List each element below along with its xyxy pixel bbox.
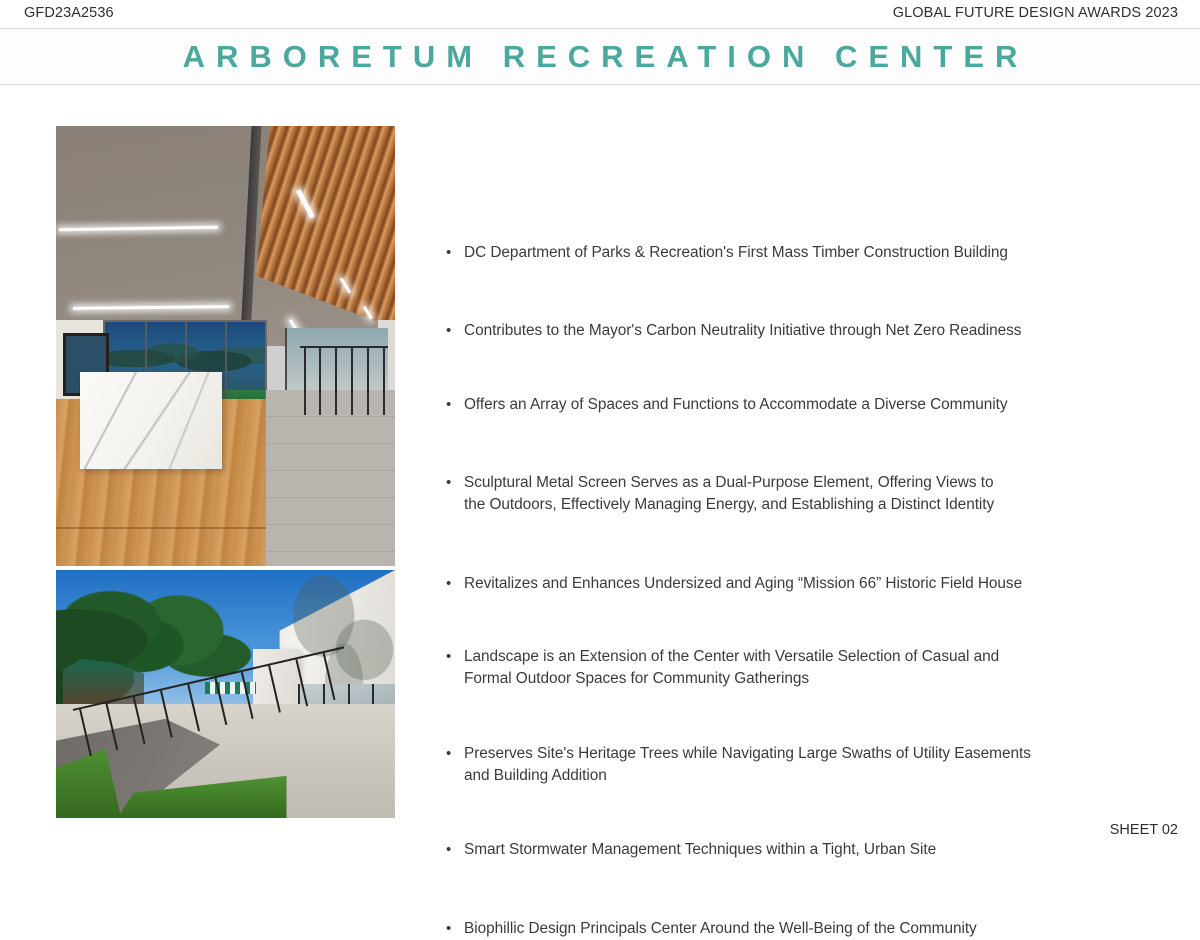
- award-name-label: GLOBAL FUTURE DESIGN AWARDS 2023: [893, 5, 1178, 21]
- list-item: • Sculptural Metal Screen Serves as a Du…: [446, 472, 994, 515]
- list-item-text: Sculptural Metal Screen Serves as a Dual…: [464, 472, 994, 515]
- bullet-dot-icon: •: [446, 394, 464, 416]
- list-item-text: Preserves Site's Heritage Trees while Na…: [464, 743, 1031, 786]
- list-item: • DC Department of Parks & Recreation's …: [446, 242, 1008, 264]
- list-item: • Preserves Site's Heritage Trees while …: [446, 743, 1031, 786]
- list-item: • Offers an Array of Spaces and Function…: [446, 394, 1008, 416]
- list-item-text: Offers an Array of Spaces and Functions …: [464, 394, 1008, 416]
- list-item: • Contributes to the Mayor's Carbon Neut…: [446, 320, 1021, 342]
- bullet-dot-icon: •: [446, 918, 464, 940]
- project-code-label: GFD23A2536: [24, 5, 114, 21]
- list-item-text: Biophillic Design Principals Center Arou…: [464, 918, 977, 940]
- list-item-text: DC Department of Parks & Recreation's Fi…: [464, 242, 1008, 264]
- interior-railing: [300, 346, 388, 388]
- bullet-dot-icon: •: [446, 573, 464, 595]
- sheet-number-label: SHEET 02: [1110, 822, 1178, 838]
- list-item: • Revitalizes and Enhances Undersized an…: [446, 573, 1022, 595]
- page-header: GFD23A2536 GLOBAL FUTURE DESIGN AWARDS 2…: [0, 0, 1200, 28]
- bullet-dot-icon: •: [446, 320, 464, 342]
- list-item-text: Revitalizes and Enhances Undersized and …: [464, 573, 1022, 595]
- list-item: • Biophillic Design Principals Center Ar…: [446, 918, 977, 940]
- bullet-dot-icon: •: [446, 472, 464, 494]
- list-item: • Landscape is an Extension of the Cente…: [446, 646, 999, 689]
- list-item-text: Landscape is an Extension of the Center …: [464, 646, 999, 689]
- marble-reception-desk: [80, 372, 222, 469]
- tile-flooring: [266, 390, 395, 566]
- title-band: ARBORETUM RECREATION CENTER: [0, 29, 1200, 84]
- header-divider-bottom: [0, 84, 1200, 85]
- interior-lobby-photo: [56, 126, 395, 566]
- bullet-dot-icon: •: [446, 743, 464, 765]
- exterior-building-photo: [56, 570, 395, 818]
- bullet-dot-icon: •: [446, 646, 464, 668]
- page-title: ARBORETUM RECREATION CENTER: [172, 39, 1029, 75]
- list-item-text: Contributes to the Mayor's Carbon Neutra…: [464, 320, 1021, 342]
- bullet-dot-icon: •: [446, 242, 464, 264]
